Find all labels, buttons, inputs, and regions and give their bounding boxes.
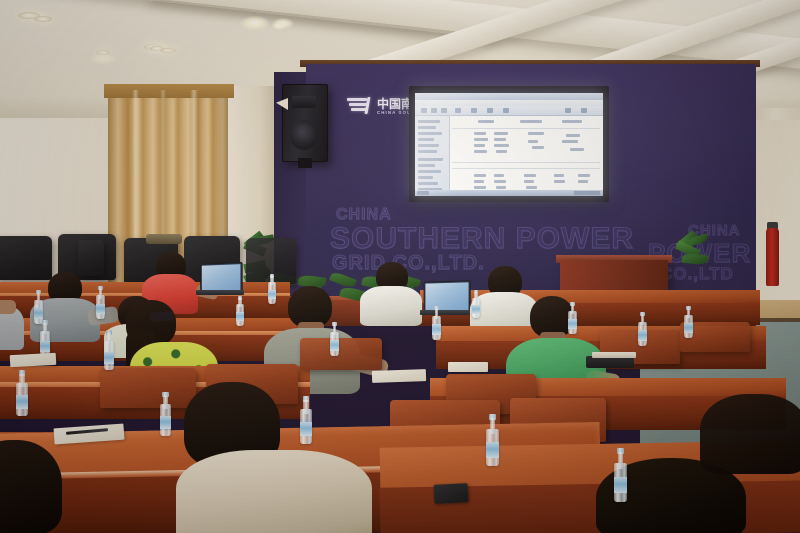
water-bottle[interactable] (96, 286, 105, 319)
papers[interactable] (592, 352, 636, 358)
wall-watermark-line-2: SOUTHERN POWER (330, 222, 634, 256)
eyeglasses-icon (150, 311, 175, 322)
water-bottle[interactable] (432, 306, 441, 340)
projected-tool-bar (415, 106, 603, 116)
water-bottle[interactable] (486, 414, 499, 466)
water-bottle[interactable] (16, 370, 28, 416)
ceiling-spotlight (90, 54, 116, 64)
smartphone[interactable] (434, 483, 469, 504)
speaker-woofer-icon (290, 120, 318, 150)
projected-taskbar (415, 190, 603, 196)
ceiling-spotlight (272, 22, 286, 30)
ceiling-downlight (160, 48, 176, 53)
fire-extinguisher (766, 228, 779, 286)
water-bottle[interactable] (300, 396, 312, 444)
projected-data-table (450, 116, 603, 190)
wooden-chair[interactable] (100, 368, 196, 408)
projected-application-window (415, 93, 603, 196)
empty-executive-chair[interactable] (0, 236, 52, 280)
projected-title-bar (415, 93, 603, 100)
water-bottle[interactable] (34, 290, 43, 324)
speaker-bracket (298, 158, 312, 168)
ceiling-downlight (34, 16, 52, 22)
attendee-body (176, 450, 372, 533)
curtain-rail (104, 84, 234, 98)
projected-system-tray (574, 191, 600, 195)
attendee-body (360, 286, 422, 326)
attendee-head (700, 394, 800, 474)
notebook[interactable] (10, 353, 57, 367)
water-bottle[interactable] (638, 312, 647, 346)
speaker-tweeter-icon (292, 96, 316, 108)
water-bottle[interactable] (268, 274, 276, 304)
water-bottle[interactable] (472, 290, 480, 318)
potted-plant-right (676, 236, 722, 276)
projected-menu-bar (415, 100, 603, 106)
conference-room-photo: CHINA SOUTHERN POWER GRID CO.,LTD. CHINA… (0, 0, 800, 533)
laptop-base[interactable] (420, 310, 472, 315)
projected-start-button (417, 191, 429, 195)
water-bottle[interactable] (330, 322, 339, 356)
logo-mark-icon (347, 97, 373, 115)
laptop-base[interactable] (196, 290, 244, 295)
attendee-arm (0, 300, 16, 314)
ceiling-spotlight (240, 16, 270, 30)
water-bottle[interactable] (568, 302, 577, 334)
projected-tree-sidebar (415, 116, 450, 190)
notebook[interactable] (448, 362, 488, 372)
water-bottle[interactable] (104, 330, 114, 370)
chair-headrest (146, 234, 182, 244)
water-bottle[interactable] (614, 448, 627, 502)
water-bottle[interactable] (236, 296, 244, 326)
china-southern-power-grid-logo: 中国南 CHINA SOUTH (347, 95, 415, 129)
wooden-chair[interactable] (300, 338, 382, 370)
chair-armrest (78, 240, 104, 276)
notebook[interactable] (372, 369, 426, 383)
laptop-screen[interactable] (424, 280, 471, 314)
water-bottle[interactable] (684, 306, 693, 338)
water-bottle[interactable] (160, 392, 171, 436)
